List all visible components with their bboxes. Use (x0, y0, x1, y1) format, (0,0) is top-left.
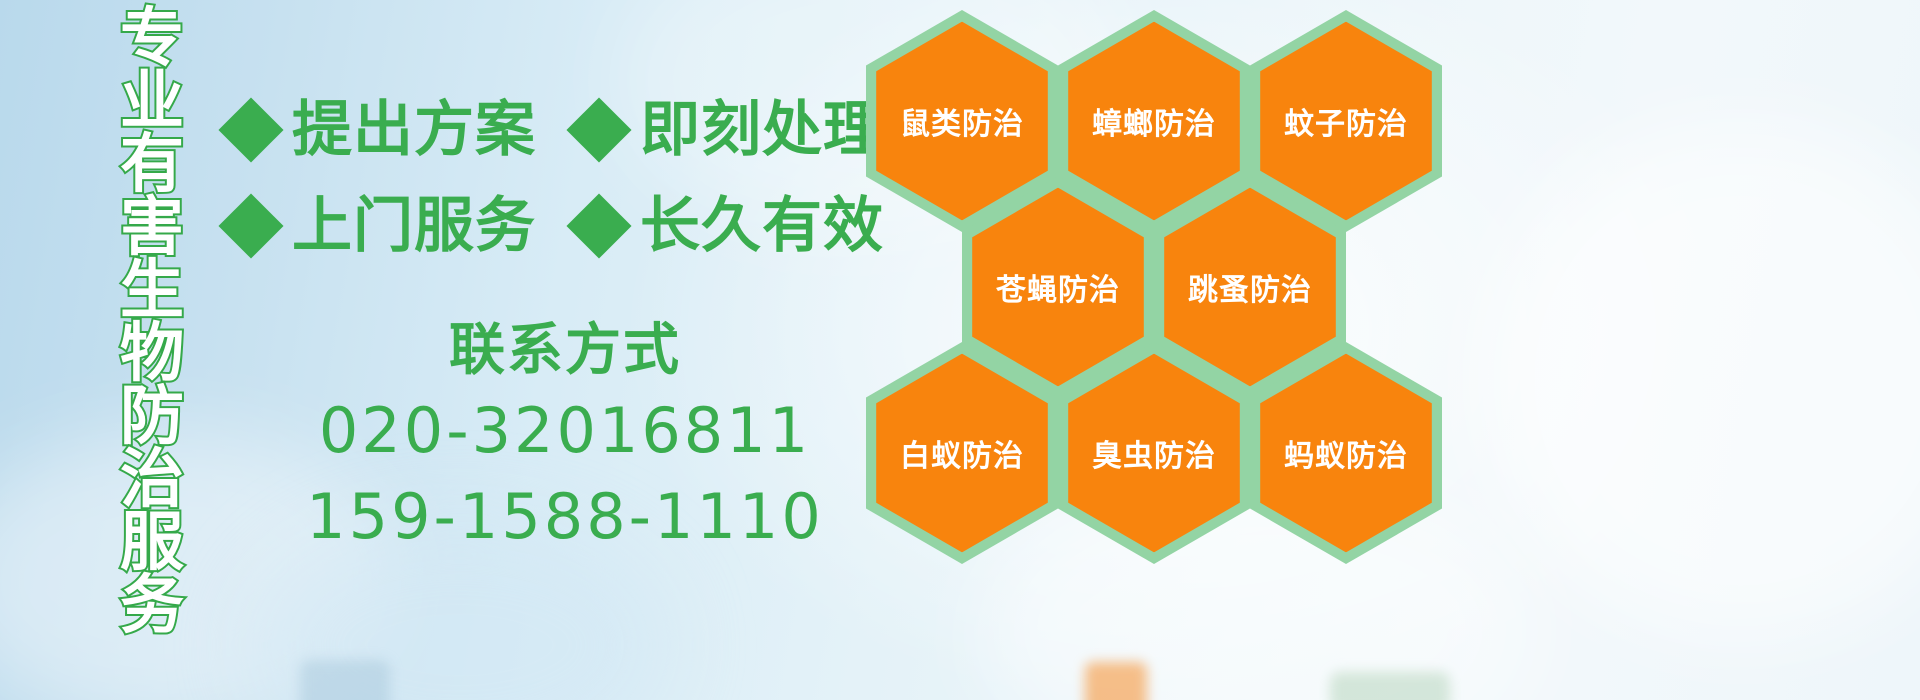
diamond-bullet-icon (218, 193, 283, 258)
background-ghost-shape (1330, 672, 1450, 700)
vertical-headline-char: 防 (120, 386, 184, 449)
phone-number-landline[interactable]: 020-32016811 (300, 392, 830, 470)
pest-control-banner: 专 业 有 害 生 物 防 治 服 务 提出方案 即刻处理 上门服务 (0, 0, 1920, 700)
feature-item-long-lasting-effect: 长久有效 (576, 196, 884, 256)
feature-row: 提出方案 即刻处理 (228, 82, 868, 178)
vertical-headline: 专 业 有 害 生 物 防 治 服 务 (104, 8, 200, 638)
vertical-headline-char: 专 (120, 8, 184, 71)
vertical-headline-char: 物 (120, 323, 184, 386)
service-hex-label: 白蚁防治 (866, 342, 1058, 564)
feature-row: 上门服务 长久有效 (228, 178, 868, 274)
service-honeycomb-grid: 鼠类防治 蟑螂防治 蚊子防治 苍蝇防治 跳蚤防治 白蚁防治 (862, 0, 1462, 560)
feature-item-propose-plan: 提出方案 (228, 100, 536, 160)
vertical-headline-char: 生 (120, 260, 184, 323)
feature-label: 上门服务 (292, 196, 536, 256)
vertical-headline-char: 务 (120, 575, 184, 638)
service-hex-ant-control[interactable]: 蚂蚁防治 (1250, 342, 1442, 564)
service-hex-termite-control[interactable]: 白蚁防治 (866, 342, 1058, 564)
vertical-headline-char: 服 (120, 512, 184, 575)
vertical-headline-char: 业 (120, 71, 184, 134)
background-ghost-shape (300, 660, 390, 700)
contact-block: 联系方式 020-32016811 159-1588-1110 (300, 318, 830, 556)
feature-list: 提出方案 即刻处理 上门服务 长久有效 (228, 82, 868, 274)
vertical-headline-char: 害 (120, 197, 184, 260)
vertical-headline-char: 治 (120, 449, 184, 512)
feature-item-door-to-door-service: 上门服务 (228, 196, 536, 256)
diamond-bullet-icon (566, 97, 631, 162)
background-ghost-shape (1085, 662, 1147, 700)
phone-number-mobile[interactable]: 159-1588-1110 (300, 478, 830, 556)
service-hex-label: 臭虫防治 (1058, 342, 1250, 564)
contact-heading: 联系方式 (300, 318, 830, 384)
diamond-bullet-icon (566, 193, 631, 258)
feature-label: 提出方案 (292, 100, 536, 160)
feature-item-immediate-handling: 即刻处理 (576, 100, 884, 160)
background-blur-blob (1480, 120, 1920, 640)
feature-label: 长久有效 (640, 196, 884, 256)
feature-label: 即刻处理 (640, 100, 884, 160)
diamond-bullet-icon (218, 97, 283, 162)
service-hex-bedbug-control[interactable]: 臭虫防治 (1058, 342, 1250, 564)
service-hex-label: 蚂蚁防治 (1250, 342, 1442, 564)
vertical-headline-char: 有 (120, 134, 184, 197)
